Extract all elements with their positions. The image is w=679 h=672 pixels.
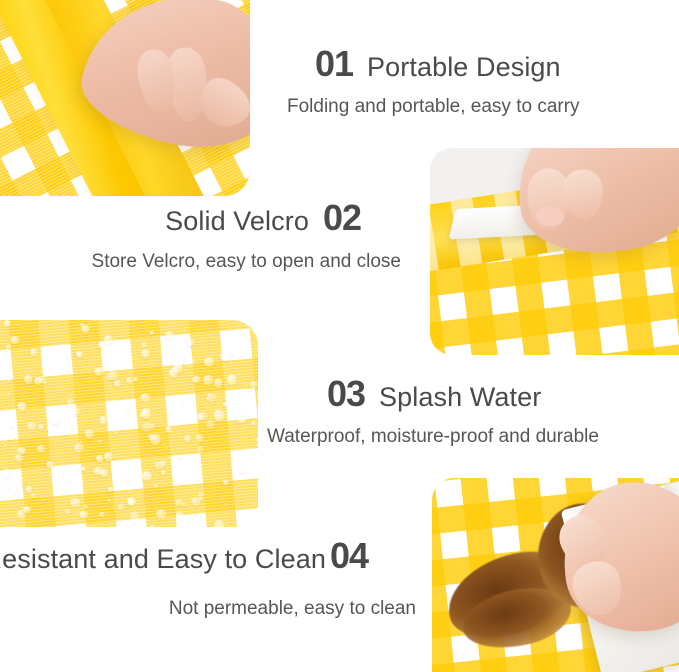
water-droplet bbox=[38, 424, 44, 430]
water-droplet bbox=[223, 402, 228, 407]
water-droplet bbox=[182, 503, 186, 506]
water-droplet bbox=[165, 331, 174, 339]
feature-number: 02 bbox=[323, 200, 361, 236]
water-droplet bbox=[68, 526, 70, 527]
water-droplet bbox=[37, 445, 46, 453]
water-droplet bbox=[175, 475, 184, 484]
water-droplet bbox=[15, 496, 19, 500]
water-droplet bbox=[6, 344, 12, 349]
feature-number: 03 bbox=[327, 376, 365, 412]
water-droplet bbox=[220, 351, 231, 361]
water-droplet bbox=[44, 499, 47, 502]
water-droplet bbox=[4, 320, 11, 327]
feature-title: Splash Water bbox=[379, 384, 541, 411]
water-droplet bbox=[211, 331, 213, 333]
water-droplet bbox=[4, 444, 7, 446]
water-droplet bbox=[198, 446, 204, 453]
water-droplet bbox=[176, 511, 184, 518]
water-droplet bbox=[122, 473, 131, 482]
water-droplet bbox=[100, 416, 108, 424]
water-droplet bbox=[156, 509, 167, 519]
water-droplet bbox=[251, 421, 256, 425]
water-droplet bbox=[99, 512, 105, 517]
water-droplet bbox=[93, 467, 104, 475]
water-droplet bbox=[114, 380, 121, 386]
feature-infographic: 01 Portable Design Folding and portable,… bbox=[0, 0, 679, 672]
water-droplet bbox=[30, 348, 39, 357]
water-droplet bbox=[85, 429, 94, 439]
water-droplet bbox=[31, 493, 37, 497]
water-droplet bbox=[24, 375, 33, 384]
velcro-strip-photo bbox=[430, 148, 679, 355]
feature-title: Solid Velcro bbox=[165, 208, 309, 235]
feature-block-02: Solid Velcro 02 Store Velcro, easy to op… bbox=[92, 200, 361, 274]
feature-heading: Dirt Resistant and Easy to Clean 04 bbox=[0, 538, 368, 574]
stain-wipe-photo bbox=[432, 478, 679, 672]
water-droplet bbox=[197, 414, 204, 420]
water-droplet bbox=[139, 414, 142, 417]
water-droplet bbox=[5, 481, 11, 488]
water-droplet bbox=[203, 375, 214, 385]
water-droplet bbox=[223, 480, 229, 485]
water-droplet bbox=[160, 460, 167, 467]
water-droplet bbox=[17, 324, 20, 326]
water-droplet bbox=[17, 447, 26, 454]
water-droplet bbox=[77, 352, 82, 357]
water-droplet bbox=[79, 511, 88, 518]
photo-inner bbox=[430, 148, 679, 355]
water-droplet bbox=[73, 407, 81, 416]
water-droplet bbox=[173, 363, 183, 373]
feature-heading: Solid Velcro 02 bbox=[92, 200, 361, 236]
photo-inner bbox=[432, 478, 679, 672]
feature-subtitle: Store Velcro, easy to open and close bbox=[92, 251, 401, 274]
water-droplet bbox=[5, 376, 13, 383]
water-droplet bbox=[250, 381, 258, 388]
water-droplet bbox=[141, 349, 150, 359]
water-droplet bbox=[150, 434, 160, 445]
water-droplet bbox=[34, 377, 42, 384]
water-droplet bbox=[214, 378, 223, 387]
water-droplet bbox=[98, 342, 105, 349]
water-droplet bbox=[240, 512, 242, 514]
water-droplet bbox=[11, 426, 14, 428]
feature-heading: 03 Splash Water bbox=[327, 376, 599, 412]
feature-number: 04 bbox=[330, 538, 368, 574]
water-droplet bbox=[192, 376, 201, 383]
water-droplet bbox=[93, 342, 95, 344]
water-droplet bbox=[133, 377, 138, 382]
water-droplet bbox=[184, 435, 191, 442]
water-droplet bbox=[184, 356, 195, 368]
water-droplet bbox=[239, 466, 247, 473]
photo-inner bbox=[0, 320, 258, 527]
feature-block-01: 01 Portable Design Folding and portable,… bbox=[315, 46, 580, 119]
water-droplet bbox=[150, 331, 155, 336]
water-droplet bbox=[27, 422, 37, 430]
water-droplet bbox=[81, 467, 86, 472]
water-droplet bbox=[248, 407, 258, 418]
water-droplet bbox=[108, 371, 118, 380]
water-droplet bbox=[114, 431, 118, 434]
water-droplet bbox=[84, 505, 88, 508]
water-droplet bbox=[206, 397, 209, 400]
feature-number: 01 bbox=[315, 46, 353, 82]
water-droplet bbox=[214, 520, 224, 527]
feature-block-03: 03 Splash Water Waterproof, moisture-pro… bbox=[327, 376, 599, 449]
water-droplet bbox=[104, 452, 113, 461]
water-droplet bbox=[50, 414, 60, 424]
water-droplet bbox=[67, 477, 72, 482]
water-droplet bbox=[96, 455, 104, 462]
water-droplet bbox=[150, 525, 155, 527]
water-beading-photo bbox=[0, 320, 258, 527]
water-droplet bbox=[247, 339, 249, 341]
water-droplet bbox=[46, 461, 53, 468]
water-droplet bbox=[165, 426, 172, 433]
water-droplet bbox=[192, 402, 194, 404]
water-droplet bbox=[98, 440, 102, 443]
water-droplet bbox=[8, 434, 15, 440]
water-droplet bbox=[17, 402, 27, 411]
water-droplet bbox=[118, 504, 125, 510]
feature-heading: 01 Portable Design bbox=[315, 46, 580, 82]
water-droplet bbox=[81, 325, 90, 332]
water-droplet bbox=[142, 471, 152, 481]
water-droplet bbox=[237, 415, 247, 423]
water-droplet bbox=[199, 497, 202, 500]
water-droplet bbox=[130, 511, 140, 522]
water-droplet bbox=[10, 336, 20, 344]
water-droplet bbox=[141, 342, 147, 348]
water-droplet bbox=[181, 403, 184, 405]
folded-mat-with-hand-photo bbox=[0, 0, 250, 196]
water-droplet bbox=[256, 438, 258, 441]
water-droplet bbox=[120, 417, 123, 420]
water-droplet bbox=[124, 406, 132, 414]
water-droplets bbox=[0, 320, 258, 527]
water-droplet bbox=[74, 443, 85, 453]
water-droplet bbox=[26, 486, 33, 493]
feature-title: Dirt Resistant and Easy to Clean bbox=[0, 546, 326, 573]
water-droplet bbox=[140, 393, 151, 402]
water-droplet bbox=[227, 374, 237, 385]
water-droplet bbox=[177, 455, 182, 460]
water-droplet bbox=[187, 339, 195, 346]
water-droplet bbox=[48, 525, 51, 527]
water-droplet bbox=[208, 393, 211, 397]
water-droplet bbox=[106, 377, 109, 380]
water-droplet bbox=[70, 498, 80, 507]
water-droplet bbox=[166, 447, 168, 450]
water-droplet bbox=[206, 421, 215, 429]
water-droplet bbox=[204, 357, 214, 367]
feature-title: Portable Design bbox=[367, 54, 561, 81]
water-droplet bbox=[256, 442, 258, 448]
water-droplet bbox=[77, 523, 81, 527]
water-droplet bbox=[154, 484, 158, 488]
water-droplet bbox=[15, 454, 24, 462]
water-droplet bbox=[150, 424, 154, 429]
water-droplet bbox=[196, 434, 204, 442]
water-droplet bbox=[161, 470, 166, 476]
feature-block-04: Dirt Resistant and Easy to Clean 04 Not … bbox=[0, 538, 368, 621]
photo-inner bbox=[0, 0, 250, 196]
water-droplet bbox=[94, 367, 104, 376]
water-droplet bbox=[121, 525, 128, 527]
feature-subtitle: Folding and portable, easy to carry bbox=[287, 96, 580, 119]
feature-subtitle: Not permeable, easy to clean bbox=[0, 598, 416, 621]
water-droplet bbox=[108, 499, 111, 502]
water-droplet bbox=[67, 398, 74, 406]
water-droplet bbox=[65, 509, 71, 514]
water-droplet bbox=[185, 369, 188, 371]
water-droplet bbox=[179, 436, 182, 439]
water-droplet bbox=[7, 392, 12, 397]
water-droplet bbox=[2, 468, 11, 478]
finger bbox=[562, 168, 605, 221]
water-droplet bbox=[104, 335, 113, 344]
water-droplet bbox=[108, 487, 113, 493]
feature-subtitle: Waterproof, moisture-proof and durable bbox=[267, 426, 599, 449]
water-droplet bbox=[193, 523, 198, 527]
water-droplet bbox=[23, 506, 31, 513]
water-droplet bbox=[126, 377, 134, 384]
